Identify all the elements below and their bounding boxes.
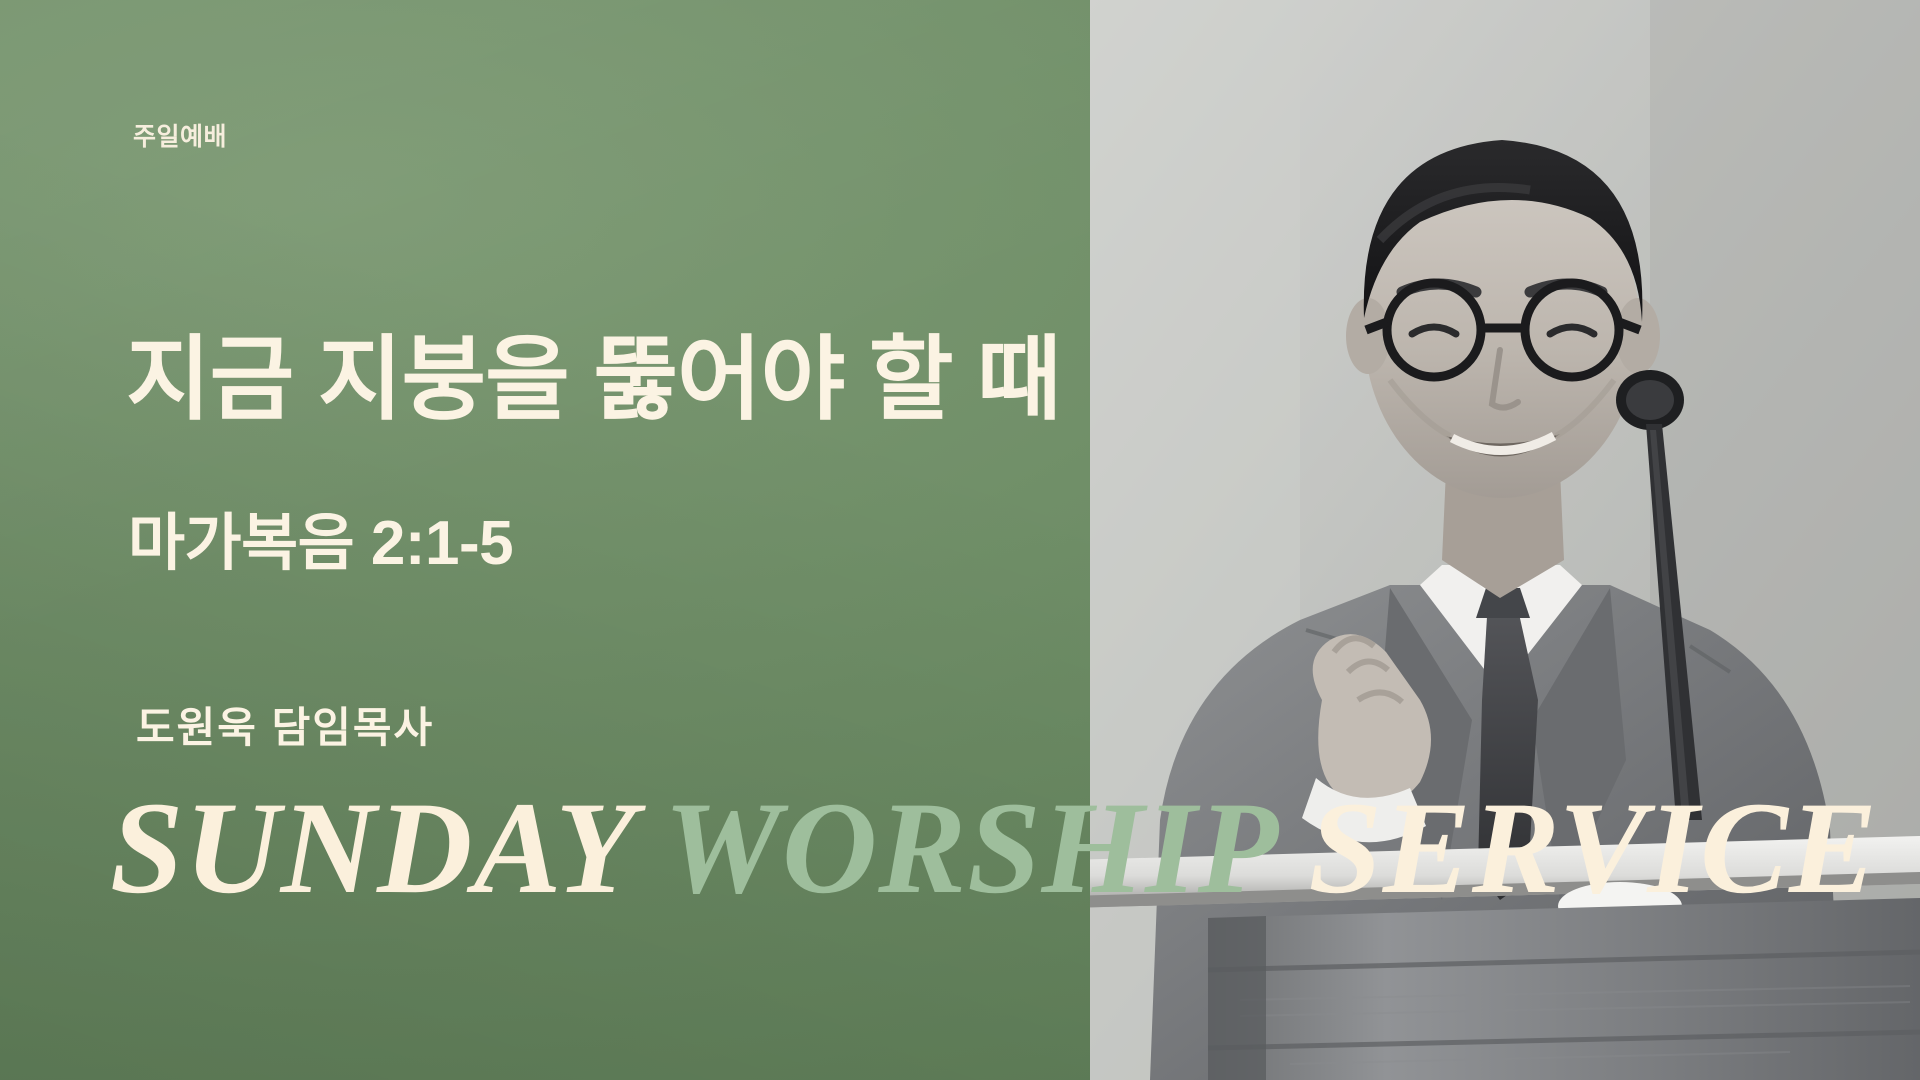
banner-word-sunday: SUNDAY [110, 774, 632, 921]
worship-service-banner: 주일예배 지금 지붕을 뚫어야 할 때 마가복음 2:1-5 도원욱 담임목사 … [0, 0, 1920, 1080]
banner-space-1 [632, 774, 664, 921]
banner-space-2 [1274, 774, 1308, 921]
speaker-name: 도원욱 담임목사 [136, 694, 434, 755]
scripture-reference: 마가복음 2:1-5 [128, 492, 513, 582]
banner-word-worship: WORSHIP [664, 774, 1275, 921]
page-title: 지금 지붕을 뚫어야 할 때 [126, 332, 1061, 429]
eyebrow-label: 주일예배 [133, 117, 227, 153]
banner-word-service: SERVICE [1308, 774, 1878, 921]
service-banner-text: SUNDAY WORSHIP SERVICE [110, 782, 1920, 914]
